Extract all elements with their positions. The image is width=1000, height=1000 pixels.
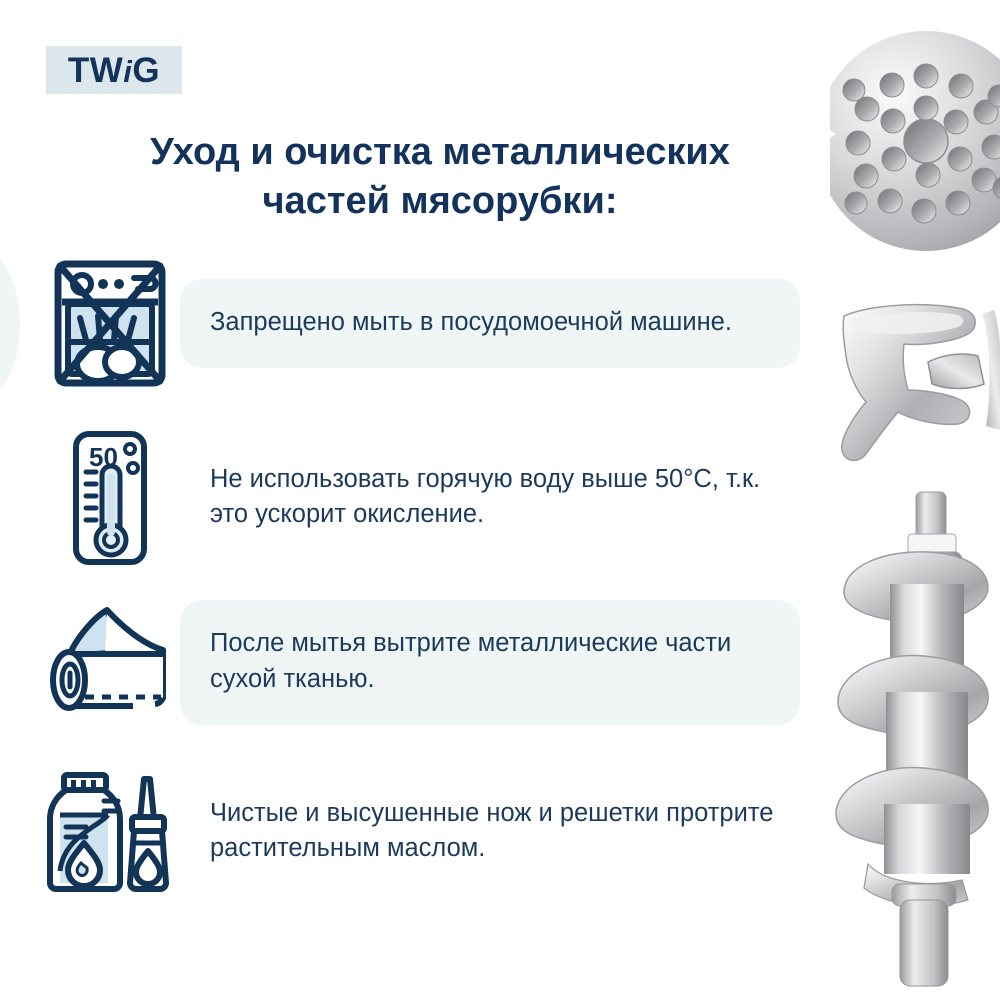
grinder-plate-photo	[830, 22, 1000, 252]
tip-row-1: Запрещено мыть в посудомоечной машине.	[40, 256, 840, 391]
cloth-roll-icon	[40, 600, 180, 725]
brand-logo-text: TWiG	[68, 53, 160, 88]
page-title-line-1: Уход и очистка металлических	[60, 128, 820, 177]
tip-text-2: Не использовать горячую воду выше 50°C, …	[180, 436, 820, 560]
page-title: Уход и очистка металлических частей мясо…	[60, 128, 820, 225]
infographic-page: TWiG Уход и очистка металлических частей…	[0, 0, 1000, 1000]
thermometer-50-icon: 50	[40, 428, 180, 568]
tip-row-4: Чистые и высушенные нож и решетки протри…	[40, 770, 870, 894]
oil-bottles-icon	[40, 771, 180, 893]
no-dishwasher-icon	[40, 256, 180, 391]
tip-text-1: Запрещено мыть в посудомоечной машине.	[180, 279, 800, 368]
grinder-auger-photo	[828, 488, 998, 988]
tip-text-4: Чистые и высушенные нож и решетки протри…	[180, 770, 830, 894]
grinder-blade-photo	[826, 288, 1000, 478]
tip-text-3: После мытья вытрите металлические части …	[180, 600, 800, 724]
decor-blob-left	[0, 250, 20, 400]
tip-row-2: 50 Не использовать горячую воду выше 50°…	[40, 428, 860, 568]
brand-logo: TWiG	[46, 46, 182, 94]
tip-row-3: После мытья вытрите металлические части …	[40, 600, 840, 725]
page-title-line-2: частей мясорубки:	[60, 177, 820, 226]
